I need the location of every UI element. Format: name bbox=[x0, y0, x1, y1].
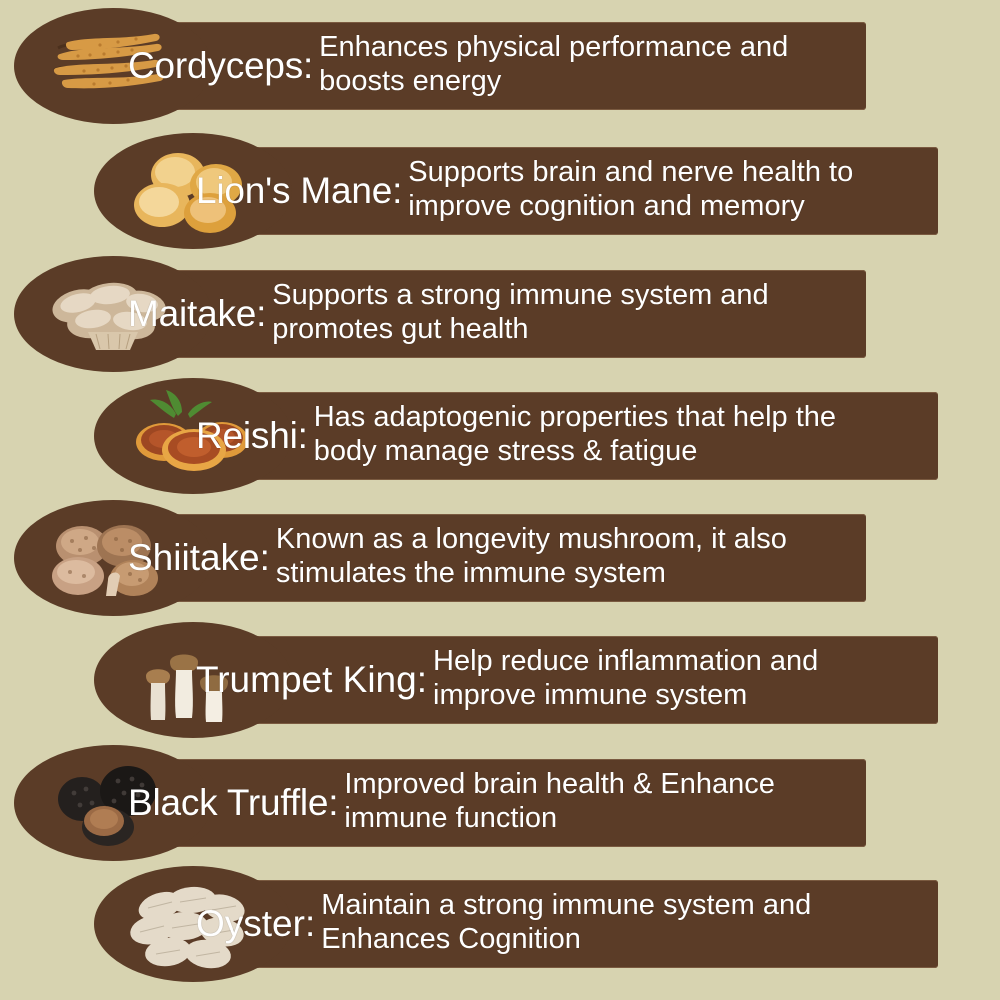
benefit-row-lions-mane: Lion's Mane: Supports brain and nerve he… bbox=[0, 125, 1000, 245]
cordyceps-mushroom-photo bbox=[38, 18, 188, 114]
shiitake-mushroom-photo bbox=[38, 510, 188, 606]
benefit-row-reishi: Reishi: Has adaptogenic properties that … bbox=[0, 370, 1000, 490]
benefit-row-maitake: Maitake: Supports a strong immune system… bbox=[0, 248, 1000, 368]
mushroom-image-oval bbox=[14, 256, 212, 372]
trumpet-king-mushroom-photo bbox=[118, 632, 268, 728]
mushroom-image-oval bbox=[14, 500, 212, 616]
benefit-bar bbox=[118, 270, 866, 358]
mushroom-image-oval bbox=[94, 378, 292, 494]
benefit-bar bbox=[198, 392, 938, 480]
mushroom-benefits-infographic: Cordyceps: Enhances physical performance… bbox=[0, 0, 1000, 1000]
oyster-mushroom-photo bbox=[118, 876, 268, 972]
mushroom-image-oval bbox=[94, 622, 292, 738]
benefit-bar bbox=[118, 759, 866, 847]
benefit-row-shiitake: Shiitake: Known as a longevity mushroom,… bbox=[0, 492, 1000, 612]
benefit-bar bbox=[118, 22, 866, 110]
reishi-mushroom-photo bbox=[118, 388, 268, 484]
lions-mane-mushroom-photo bbox=[118, 143, 268, 239]
benefit-bar bbox=[118, 514, 866, 602]
benefit-bar bbox=[198, 147, 938, 235]
mushroom-image-oval bbox=[14, 745, 212, 861]
benefit-bar bbox=[198, 636, 938, 724]
mushroom-image-oval bbox=[94, 133, 292, 249]
maitake-mushroom-photo bbox=[38, 266, 188, 362]
mushroom-image-oval bbox=[14, 8, 212, 124]
benefit-bar bbox=[198, 880, 938, 968]
herb-garnish bbox=[150, 390, 212, 418]
benefit-row-oyster: Oyster: Maintain a strong immune system … bbox=[0, 858, 1000, 978]
benefit-row-cordyceps: Cordyceps: Enhances physical performance… bbox=[0, 0, 1000, 120]
benefit-row-trumpet-king: Trumpet King: Help reduce inflammation a… bbox=[0, 614, 1000, 734]
black-truffle-photo bbox=[38, 755, 188, 851]
mushroom-image-oval bbox=[94, 866, 292, 982]
benefit-row-black-truffle: Black Truffle: Improved brain health & E… bbox=[0, 737, 1000, 857]
